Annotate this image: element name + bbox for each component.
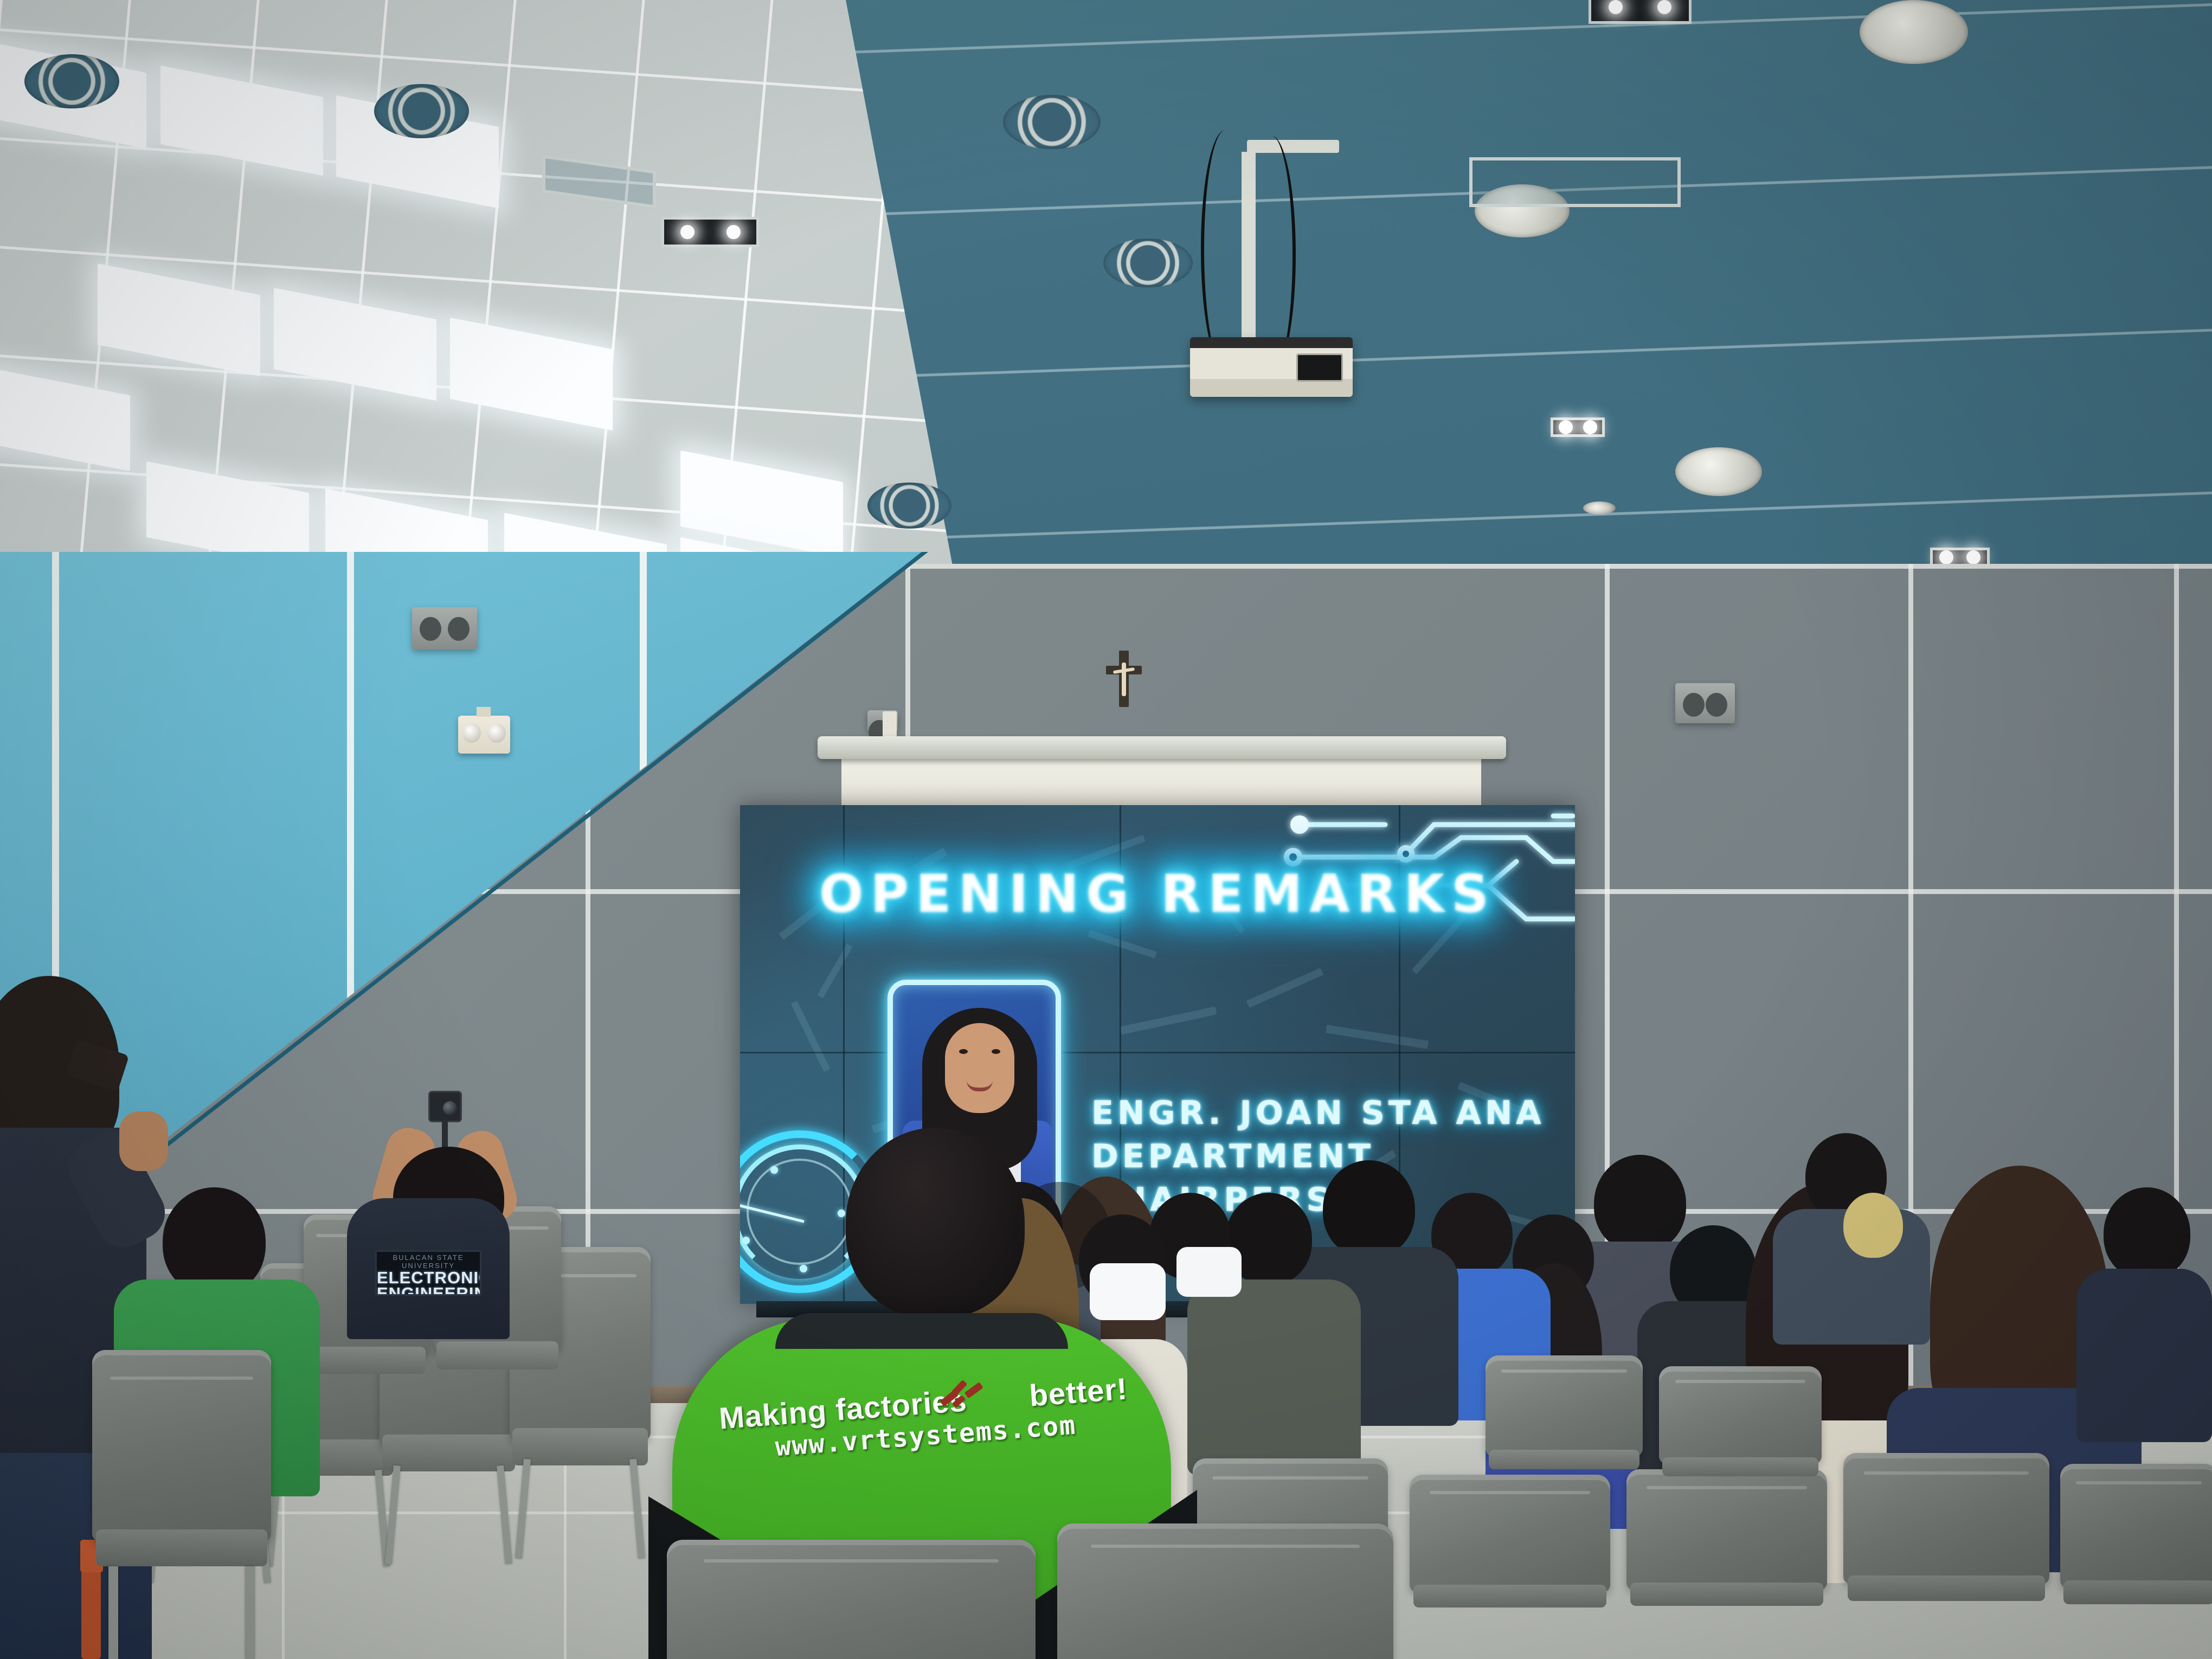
emergency-light	[458, 716, 510, 754]
chair[interactable]	[1659, 1366, 1822, 1523]
crucifix	[1106, 651, 1142, 707]
electronics-engineering-shirt: BULACAN STATE UNIVERSITY ELECTRONICS ENG…	[347, 1198, 510, 1339]
ceiling-diffuser	[1860, 0, 1968, 64]
chair[interactable]	[1057, 1523, 1393, 1659]
shirt-graphic: BULACAN STATE UNIVERSITY ELECTRONICS ENG…	[375, 1250, 481, 1296]
screen-control-switch[interactable]	[883, 711, 897, 737]
face-mask	[1090, 1263, 1166, 1320]
chair[interactable]	[92, 1350, 271, 1659]
speaker-role-line1: DEPARTMENT	[1091, 1135, 1545, 1178]
projector-cable	[1201, 130, 1250, 369]
projector-screen-case	[818, 736, 1506, 759]
jacket-slogan: Making factories better! www.vrtsystems.…	[714, 1371, 1135, 1467]
chair[interactable]	[1843, 1453, 2049, 1659]
ceiling-projector	[1190, 337, 1353, 397]
ceiling-spot-light-bar	[1589, 0, 1692, 24]
ceiling-speaker	[1103, 239, 1193, 287]
hand	[119, 1111, 168, 1171]
chair[interactable]	[2060, 1464, 2212, 1659]
head	[846, 1128, 1025, 1317]
projector-lens	[1296, 353, 1343, 382]
speaker-name: ENGR. JOAN STA ANA	[1091, 1091, 1545, 1135]
ceiling-spot-light-bar	[1551, 417, 1605, 437]
ceiling-speaker	[374, 84, 469, 138]
action-camera[interactable]	[428, 1091, 462, 1122]
ceiling-spot-light-bar	[661, 217, 759, 247]
ceiling-access-panel	[1469, 157, 1681, 207]
ceiling-speaker	[24, 54, 119, 108]
ceiling-speaker	[1003, 95, 1101, 149]
ceiling-speaker	[867, 483, 951, 529]
ceiling-speaker	[1675, 447, 1762, 496]
chair[interactable]	[1486, 1355, 1643, 1518]
jacket-collar	[775, 1313, 1068, 1349]
ceiling-vent	[1583, 501, 1616, 515]
chair[interactable]	[667, 1540, 1036, 1659]
wall-speaker	[1675, 683, 1735, 723]
wall-speaker	[412, 607, 477, 650]
face-mask	[1176, 1247, 1242, 1297]
slide-title: OPENING REMARKS	[740, 864, 1575, 924]
auditorium-photo: OPENING REMARKS ENGR. JOAN STA ANA DEPAR…	[0, 0, 2212, 1659]
